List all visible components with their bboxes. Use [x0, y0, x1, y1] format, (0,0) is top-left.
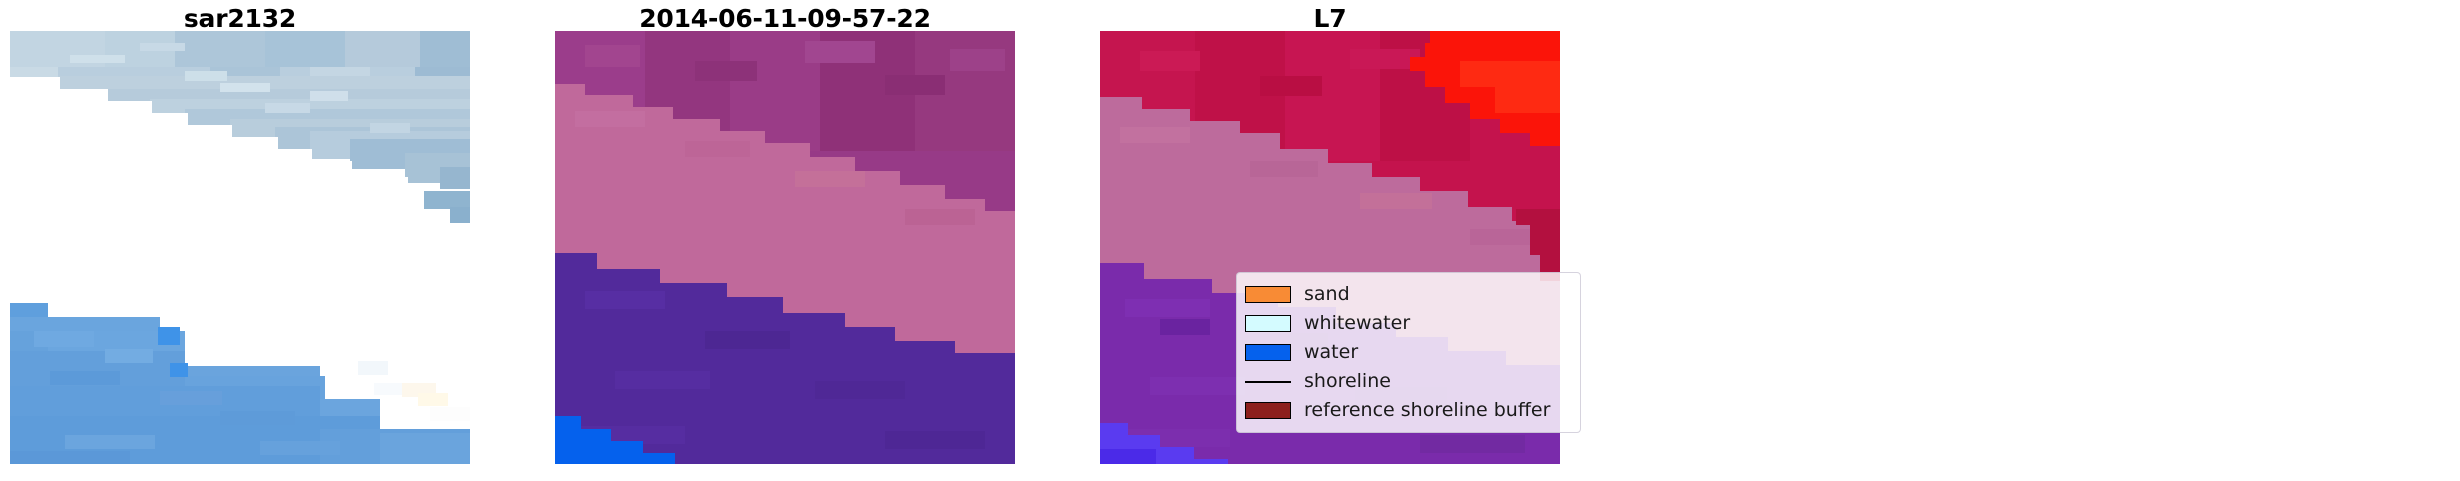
figure-root: sar2132: [0, 0, 2460, 481]
legend-item-water: water: [1245, 338, 1570, 367]
legend-swatch-sand: [1245, 286, 1291, 303]
legend-label-sand: sand: [1304, 285, 1350, 304]
legend-item-sand: sand: [1245, 280, 1570, 309]
legend-swatch-whitewater: [1245, 315, 1291, 332]
panel-title-l7: L7: [1100, 4, 1560, 33]
raster-image-date: [555, 31, 1015, 464]
legend-swatch-water: [1245, 344, 1291, 361]
image-axes-date: [555, 31, 1015, 464]
panel-sar2132: sar2132: [10, 0, 470, 481]
legend-label-reference-shoreline-buffer: reference shoreline buffer: [1304, 401, 1550, 420]
legend-label-whitewater: whitewater: [1304, 314, 1410, 333]
legend-item-shoreline: shoreline: [1245, 367, 1570, 396]
legend-item-whitewater: whitewater: [1245, 309, 1570, 338]
panel-title-sar2132: sar2132: [10, 4, 470, 33]
raster-image-sar2132: [10, 31, 470, 464]
legend-label-water: water: [1304, 343, 1358, 362]
legend: sand whitewater water shoreline referenc…: [1236, 272, 1581, 433]
legend-line-shoreline: [1245, 373, 1291, 390]
panel-2014-06-11-09-57-22: 2014-06-11-09-57-22: [555, 0, 1015, 481]
panel-title-date: 2014-06-11-09-57-22: [555, 4, 1015, 33]
legend-label-shoreline: shoreline: [1304, 372, 1391, 391]
legend-swatch-reference-shoreline-buffer: [1245, 402, 1291, 419]
sar2132-raster: [10, 31, 470, 464]
date-raster: [555, 31, 1015, 464]
shoreline-line-icon: [1245, 381, 1291, 383]
legend-item-reference-shoreline-buffer: reference shoreline buffer: [1245, 396, 1570, 425]
image-axes-sar2132: [10, 31, 470, 464]
